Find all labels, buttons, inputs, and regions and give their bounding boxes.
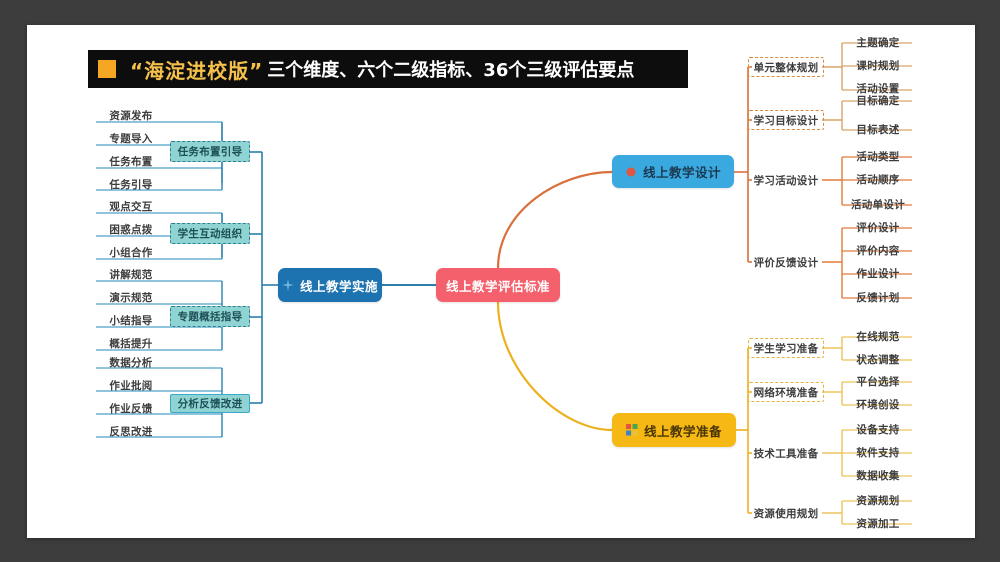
list-item[interactable]: 任务引导	[94, 175, 168, 193]
group-label-learning-activity-design[interactable]: 学习活动设计	[748, 170, 824, 190]
group-label-network-environment[interactable]: 网络环境准备	[748, 382, 824, 402]
group-label-evaluation-feedback-design[interactable]: 评价反馈设计	[748, 252, 824, 272]
branch-node-design[interactable]: 线上教学设计	[612, 155, 734, 188]
page-title: 三个维度、六个二级指标、36个三级评估要点	[267, 56, 634, 82]
list-item[interactable]: 数据分析	[94, 353, 168, 371]
group-label-unit-planning[interactable]: 单元整体规划	[748, 57, 824, 77]
group-label-text: 学生互动组织	[178, 226, 243, 241]
windows-icon	[626, 424, 638, 436]
dot-icon	[625, 166, 637, 178]
list-item[interactable]: 作业批阅	[94, 376, 168, 394]
list-item[interactable]: 资源发布	[94, 106, 168, 124]
list-item[interactable]: 专题导入	[94, 129, 168, 147]
branch-node-implement[interactable]: 线上教学实施	[278, 268, 382, 302]
group-label-analysis-feedback[interactable]: 分析反馈改进	[170, 394, 250, 413]
list-item[interactable]: 评价设计	[842, 218, 914, 236]
list-item[interactable]: 概括提升	[94, 334, 168, 352]
list-item[interactable]: 在线规范	[842, 327, 914, 345]
group-label-tech-tools[interactable]: 技术工具准备	[748, 443, 824, 463]
group-label-text: 分析反馈改进	[178, 396, 243, 411]
group-label-student-interaction[interactable]: 学生互动组织	[170, 223, 250, 244]
list-item[interactable]: 目标表述	[842, 120, 914, 138]
title-banner: “海淀进校版” 三个维度、六个二级指标、36个三级评估要点	[88, 50, 688, 88]
group-label-student-readiness[interactable]: 学生学习准备	[748, 338, 824, 358]
list-item[interactable]: 小组合作	[94, 243, 168, 261]
group-label-topic-summary-guidance[interactable]: 专题概括指导	[170, 306, 250, 327]
list-item[interactable]: 软件支持	[842, 443, 914, 461]
title-quoted-text: “海淀进校版”	[130, 55, 263, 84]
center-node[interactable]: 线上教学评估标准	[436, 268, 560, 302]
list-item[interactable]: 困惑点拨	[94, 220, 168, 238]
list-item[interactable]: 任务布置	[94, 152, 168, 170]
list-item[interactable]: 讲解规范	[94, 265, 168, 283]
list-item[interactable]: 活动顺序	[842, 170, 914, 188]
list-item[interactable]: 数据收集	[842, 466, 914, 484]
list-item[interactable]: 设备支持	[842, 420, 914, 438]
list-item[interactable]: 反馈计划	[842, 288, 914, 306]
group-label-text: 任务布置引导	[178, 144, 243, 159]
group-label-task-guidance[interactable]: 任务布置引导	[170, 141, 250, 162]
list-item[interactable]: 主题确定	[842, 33, 914, 51]
list-item[interactable]: 目标确定	[842, 91, 914, 109]
list-item[interactable]: 资源加工	[842, 514, 914, 532]
list-item[interactable]: 作业反馈	[94, 399, 168, 417]
list-item[interactable]: 小结指导	[94, 311, 168, 329]
sparkle-icon	[282, 279, 294, 291]
list-item[interactable]: 平台选择	[842, 372, 914, 390]
branch-label-implement: 线上教学实施	[300, 276, 378, 295]
list-item[interactable]: 状态调整	[842, 350, 914, 368]
mindmap-stage: “海淀进校版” 三个维度、六个二级指标、36个三级评估要点 线上教学评估标准 线…	[0, 0, 1000, 562]
title-bullet-square-icon	[98, 60, 116, 78]
branch-label-design: 线上教学设计	[643, 162, 721, 181]
list-item[interactable]: 课时规划	[842, 56, 914, 74]
list-item[interactable]: 活动单设计	[842, 195, 914, 213]
group-label-learning-objective-design[interactable]: 学习目标设计	[748, 110, 824, 130]
list-item[interactable]: 活动类型	[842, 147, 914, 165]
list-item[interactable]: 反思改进	[94, 422, 168, 440]
list-item[interactable]: 作业设计	[842, 264, 914, 282]
branch-label-prepare: 线上教学准备	[644, 421, 722, 440]
list-item[interactable]: 观点交互	[94, 197, 168, 215]
list-item[interactable]: 资源规划	[842, 491, 914, 509]
group-label-text: 专题概括指导	[178, 309, 243, 324]
branch-node-prepare[interactable]: 线上教学准备	[612, 413, 736, 447]
center-node-label: 线上教学评估标准	[446, 276, 550, 295]
list-item[interactable]: 评价内容	[842, 241, 914, 259]
list-item[interactable]: 环境创设	[842, 395, 914, 413]
list-item[interactable]: 演示规范	[94, 288, 168, 306]
group-label-resource-usage[interactable]: 资源使用规划	[748, 503, 824, 523]
